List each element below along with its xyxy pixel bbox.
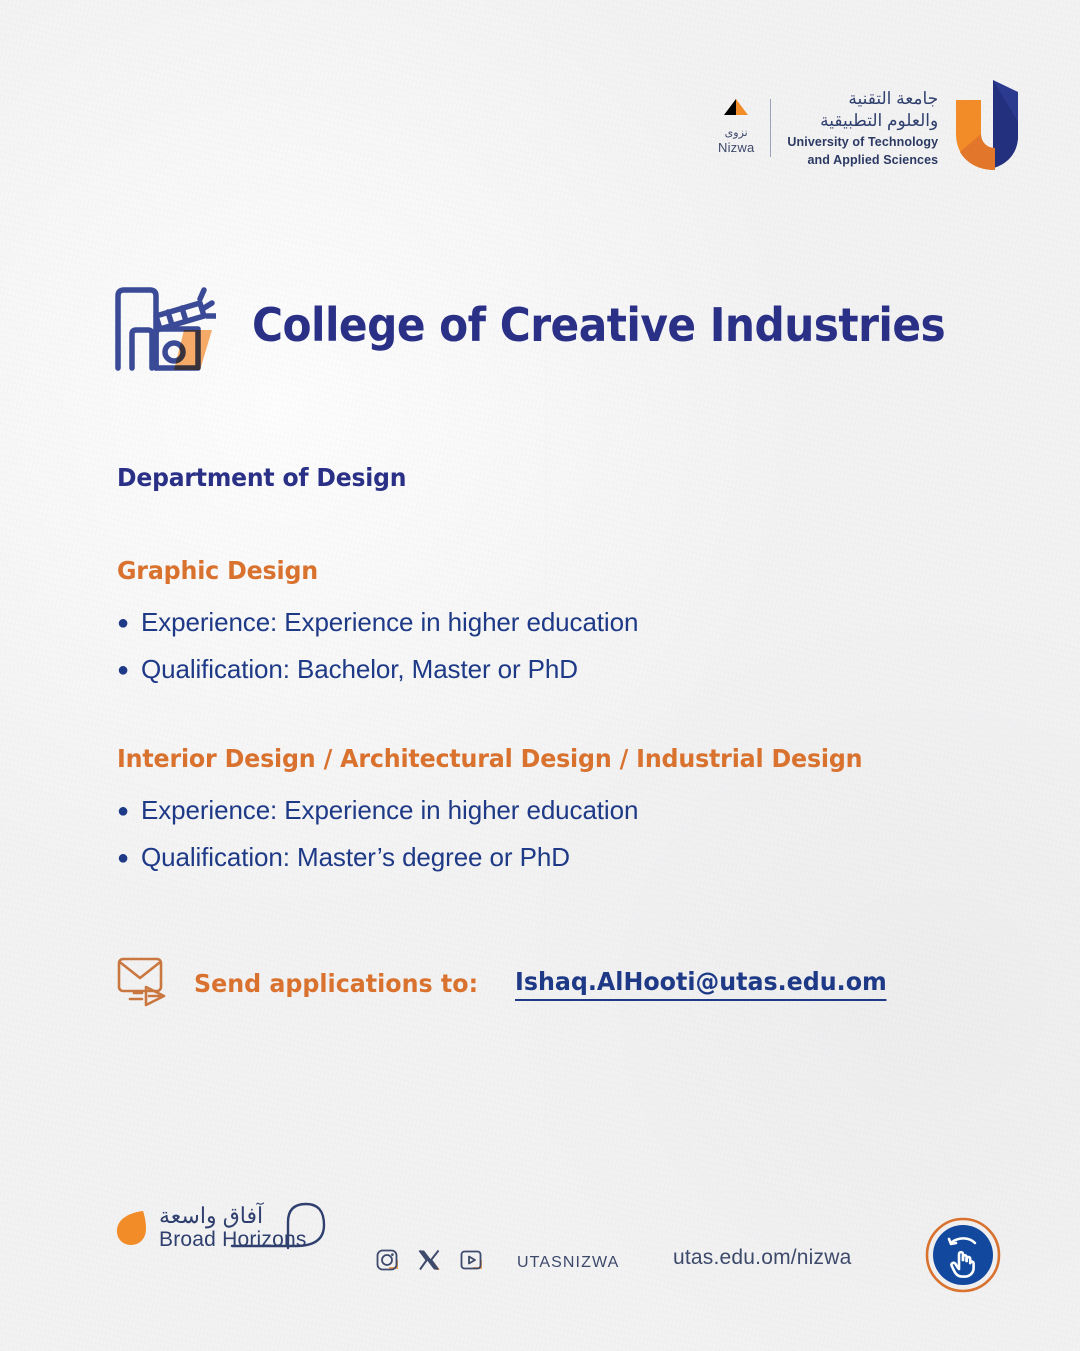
university-name-block: جامعة التقنية والعلوم التطبيقية Universi… [787,88,954,168]
list-item-label: Qualification: Bachelor, Master or PhD [141,646,578,693]
mountain-triangle-icon [723,98,749,121]
utas-header-logo: نزوى Nizwa جامعة التقنية والعلوم التطبيق… [718,78,1020,178]
section-interior-architectural-industrial-design: Interior Design / Architectural Design /… [117,744,902,882]
nizwa-arabic-label: نزوى [725,127,748,140]
send-applications-row: Send applications to: Ishaq.AlHooti@utas… [116,955,906,1012]
university-arabic-line1: جامعة التقنية [848,88,938,110]
list-item: ● Experience: Experience in higher educa… [117,787,902,834]
send-envelope-icon [116,955,172,1012]
swipe-hand-gesture-icon[interactable] [925,1217,1001,1298]
page-title-row: College of Creative Industries [112,272,1005,377]
requirements-list: ● Experience: Experience in higher educa… [117,599,638,694]
logo-divider [770,99,771,157]
social-handle: UTASNIZWA [517,1254,619,1272]
website-url[interactable]: utas.edu.om/nizwa [673,1246,852,1270]
requirements-list: ● Experience: Experience in higher educa… [117,787,902,882]
section-graphic-design: Graphic Design ● Experience: Experience … [117,556,638,694]
social-links: UTASNIZWA [375,1248,619,1277]
department-heading: Department of Design [117,463,406,492]
application-email-link[interactable]: Ishaq.AlHooti@utas.edu.om [515,967,887,1001]
creative-industries-building-camera-icon [112,272,216,377]
poster-page: نزوى Nizwa جامعة التقنية والعلوم التطبيق… [0,0,1080,1351]
bullet-dot-icon: ● [117,660,129,680]
university-english-line1: University of Technology [787,134,938,150]
list-item: ● Qualification: Master’s degree or PhD [117,834,902,881]
nizwa-branch-lockup: نزوى Nizwa [718,98,770,157]
list-item-label: Experience: Experience in higher educati… [141,787,638,834]
instagram-icon[interactable] [375,1248,399,1277]
utas-u-logo-icon [954,78,1020,178]
section-heading: Interior Design / Architectural Design /… [117,744,862,773]
list-item-label: Experience: Experience in higher educati… [141,599,638,646]
broad-horizons-drop-icon [113,1207,149,1252]
list-item-label: Qualification: Master’s degree or PhD [141,834,570,881]
youtube-icon[interactable] [459,1248,483,1277]
page-title: College of Creative Industries [252,298,945,352]
list-item: ● Experience: Experience in higher educa… [117,599,638,646]
send-applications-label: Send applications to: [194,969,478,998]
university-english-line2: and Applied Sciences [807,152,938,168]
section-heading: Graphic Design [117,556,612,585]
list-item: ● Qualification: Bachelor, Master or PhD [117,646,638,693]
footer: آفاق واسعة Broad Horizons [0,1196,1080,1306]
bullet-dot-icon: ● [117,613,129,633]
nizwa-english-label: Nizwa [718,140,754,156]
broad-horizons-arc-icon [228,1196,338,1259]
broad-horizons-lockup: آفاق واسعة Broad Horizons [113,1204,307,1252]
university-arabic-line2: والعلوم التطبيقية [820,110,938,132]
x-twitter-icon[interactable] [417,1248,441,1277]
bullet-dot-icon: ● [117,801,129,821]
bullet-dot-icon: ● [117,848,129,868]
